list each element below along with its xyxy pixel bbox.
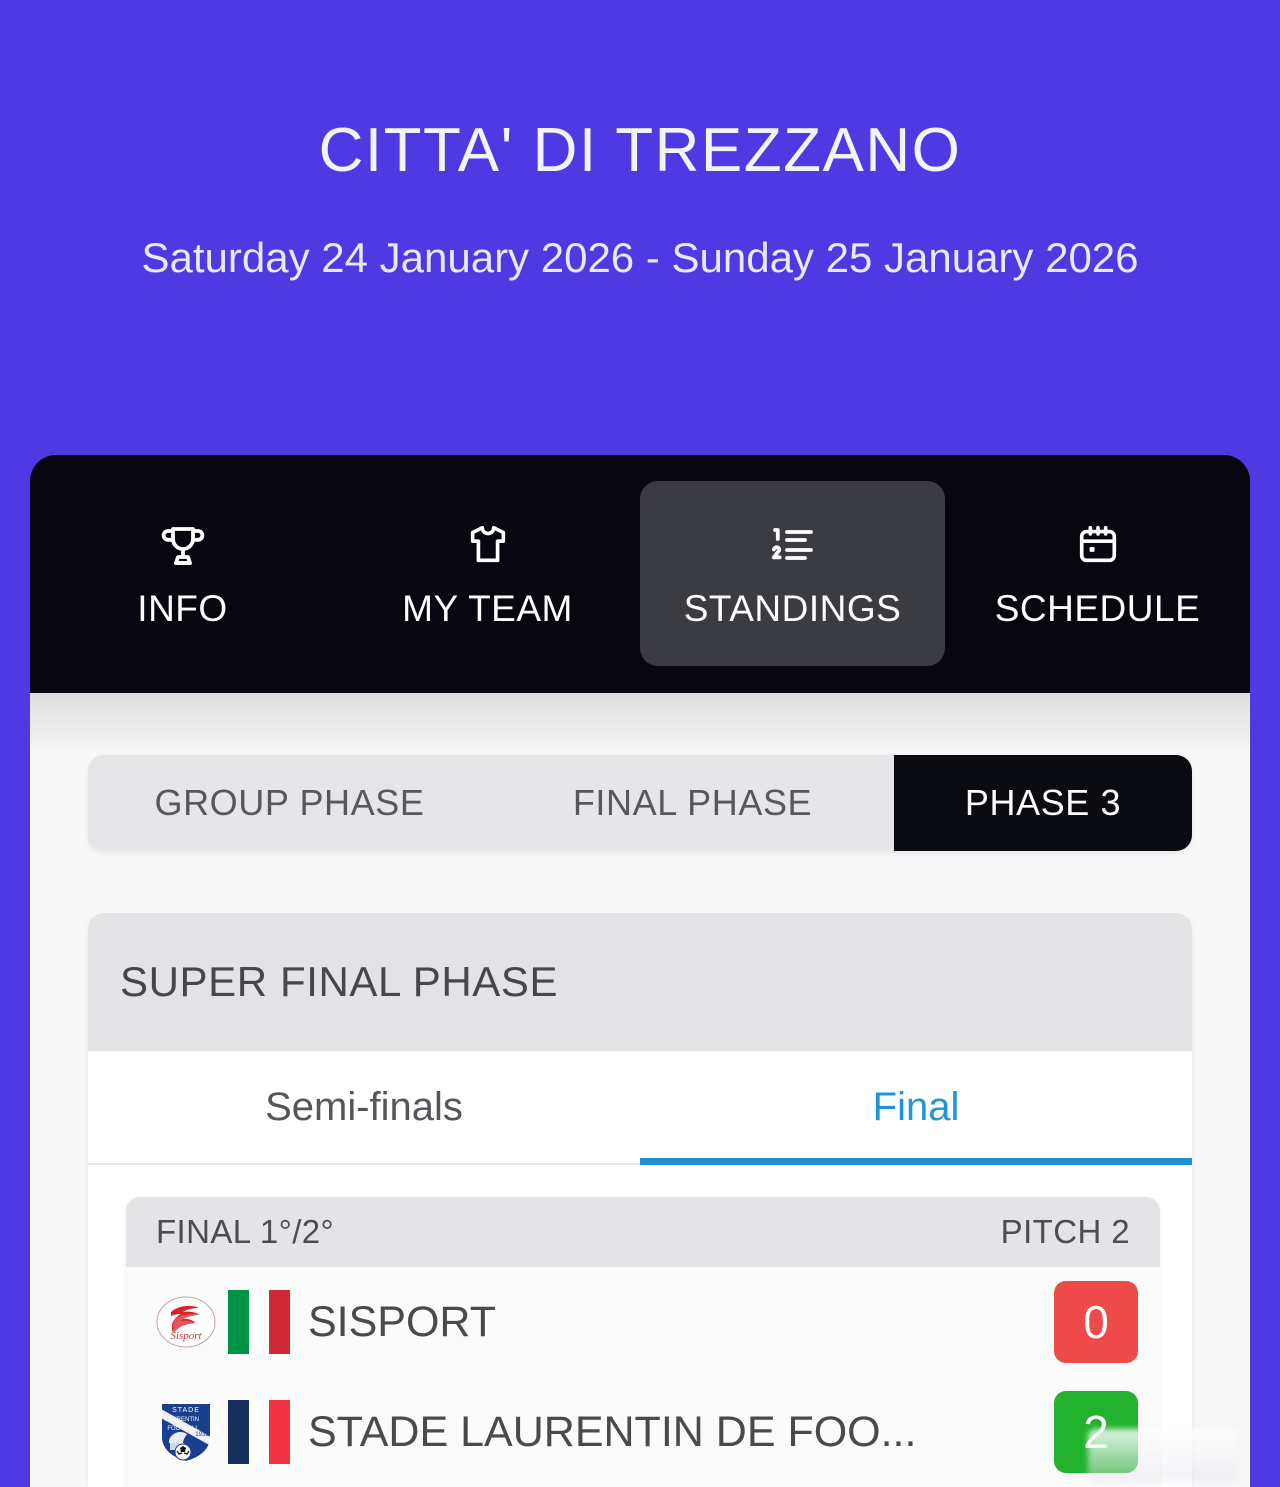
team-name: STADE LAURENTIN DE FOO... xyxy=(308,1408,1054,1457)
svg-text:LAURENTIN: LAURENTIN xyxy=(165,1417,199,1423)
page-title: CITTA' DI TREZZANO xyxy=(0,118,1280,183)
jersey-icon xyxy=(465,518,511,572)
table-row[interactable]: STADE LAURENTIN FOOTBALL 1932 xyxy=(126,1377,1160,1487)
content-sheet: GROUP PHASE FINAL PHASE PHASE 3 SUPER FI… xyxy=(30,693,1250,1487)
score-badge: 0 xyxy=(1054,1281,1138,1363)
stade-laurentin-crest-icon: STADE LAURENTIN FOOTBALL 1932 xyxy=(154,1400,218,1464)
round-tabs: Semi-finals Final xyxy=(88,1051,1192,1165)
match-card-header: FINAL 1°/2° PITCH 2 xyxy=(126,1197,1160,1267)
svg-text:1932: 1932 xyxy=(195,1432,209,1438)
nav-item-info-label: INFO xyxy=(137,588,227,630)
phase-tab-phase-3[interactable]: PHASE 3 xyxy=(894,755,1192,851)
nav-item-schedule-label: SCHEDULE xyxy=(995,588,1201,630)
match-card[interactable]: FINAL 1°/2° PITCH 2 Sisport xyxy=(126,1197,1160,1487)
svg-text:Sisport: Sisport xyxy=(170,1330,202,1342)
nav-item-info[interactable]: INFO xyxy=(30,481,335,666)
sheet-top-shadow xyxy=(30,693,1250,753)
team-name: SISPORT xyxy=(308,1298,1054,1347)
nav-item-standings[interactable]: STANDINGS xyxy=(640,481,945,666)
nav-item-my-team[interactable]: MY TEAM xyxy=(335,481,640,666)
calendar-icon xyxy=(1075,518,1121,572)
score-badge: 2 xyxy=(1054,1391,1138,1473)
france-flag-icon xyxy=(228,1400,290,1464)
main-navbar: INFO MY TEAM STANDINGS xyxy=(30,455,1250,693)
nav-item-schedule[interactable]: SCHEDULE xyxy=(945,481,1250,666)
italy-flag-icon xyxy=(228,1290,290,1354)
match-pitch-label: PITCH 2 xyxy=(1001,1213,1130,1251)
phase-tab-final-phase[interactable]: FINAL PHASE xyxy=(491,755,894,851)
sisport-crest-icon: Sisport xyxy=(154,1290,218,1354)
round-tab-semi-finals[interactable]: Semi-finals xyxy=(88,1051,640,1163)
svg-text:STADE: STADE xyxy=(172,1407,200,1414)
ordered-list-icon xyxy=(767,518,819,572)
round-tab-final[interactable]: Final xyxy=(640,1051,1192,1163)
nav-item-standings-label: STANDINGS xyxy=(684,588,902,630)
standings-card: SUPER FINAL PHASE Semi-finals Final FINA… xyxy=(88,913,1192,1487)
phase-tab-group-phase[interactable]: GROUP PHASE xyxy=(88,755,491,851)
trophy-icon xyxy=(159,518,207,572)
standings-card-title: SUPER FINAL PHASE xyxy=(88,913,1192,1051)
hero-header: CITTA' DI TREZZANO Saturday 24 January 2… xyxy=(0,0,1280,299)
table-row[interactable]: Sisport SISPORT 0 xyxy=(126,1267,1160,1377)
match-stage-label: FINAL 1°/2° xyxy=(156,1213,334,1251)
event-date-range: Saturday 24 January 2026 - Sunday 25 Jan… xyxy=(0,217,1280,299)
phase-segmented-control: GROUP PHASE FINAL PHASE PHASE 3 xyxy=(88,755,1192,851)
nav-item-my-team-label: MY TEAM xyxy=(402,588,573,630)
